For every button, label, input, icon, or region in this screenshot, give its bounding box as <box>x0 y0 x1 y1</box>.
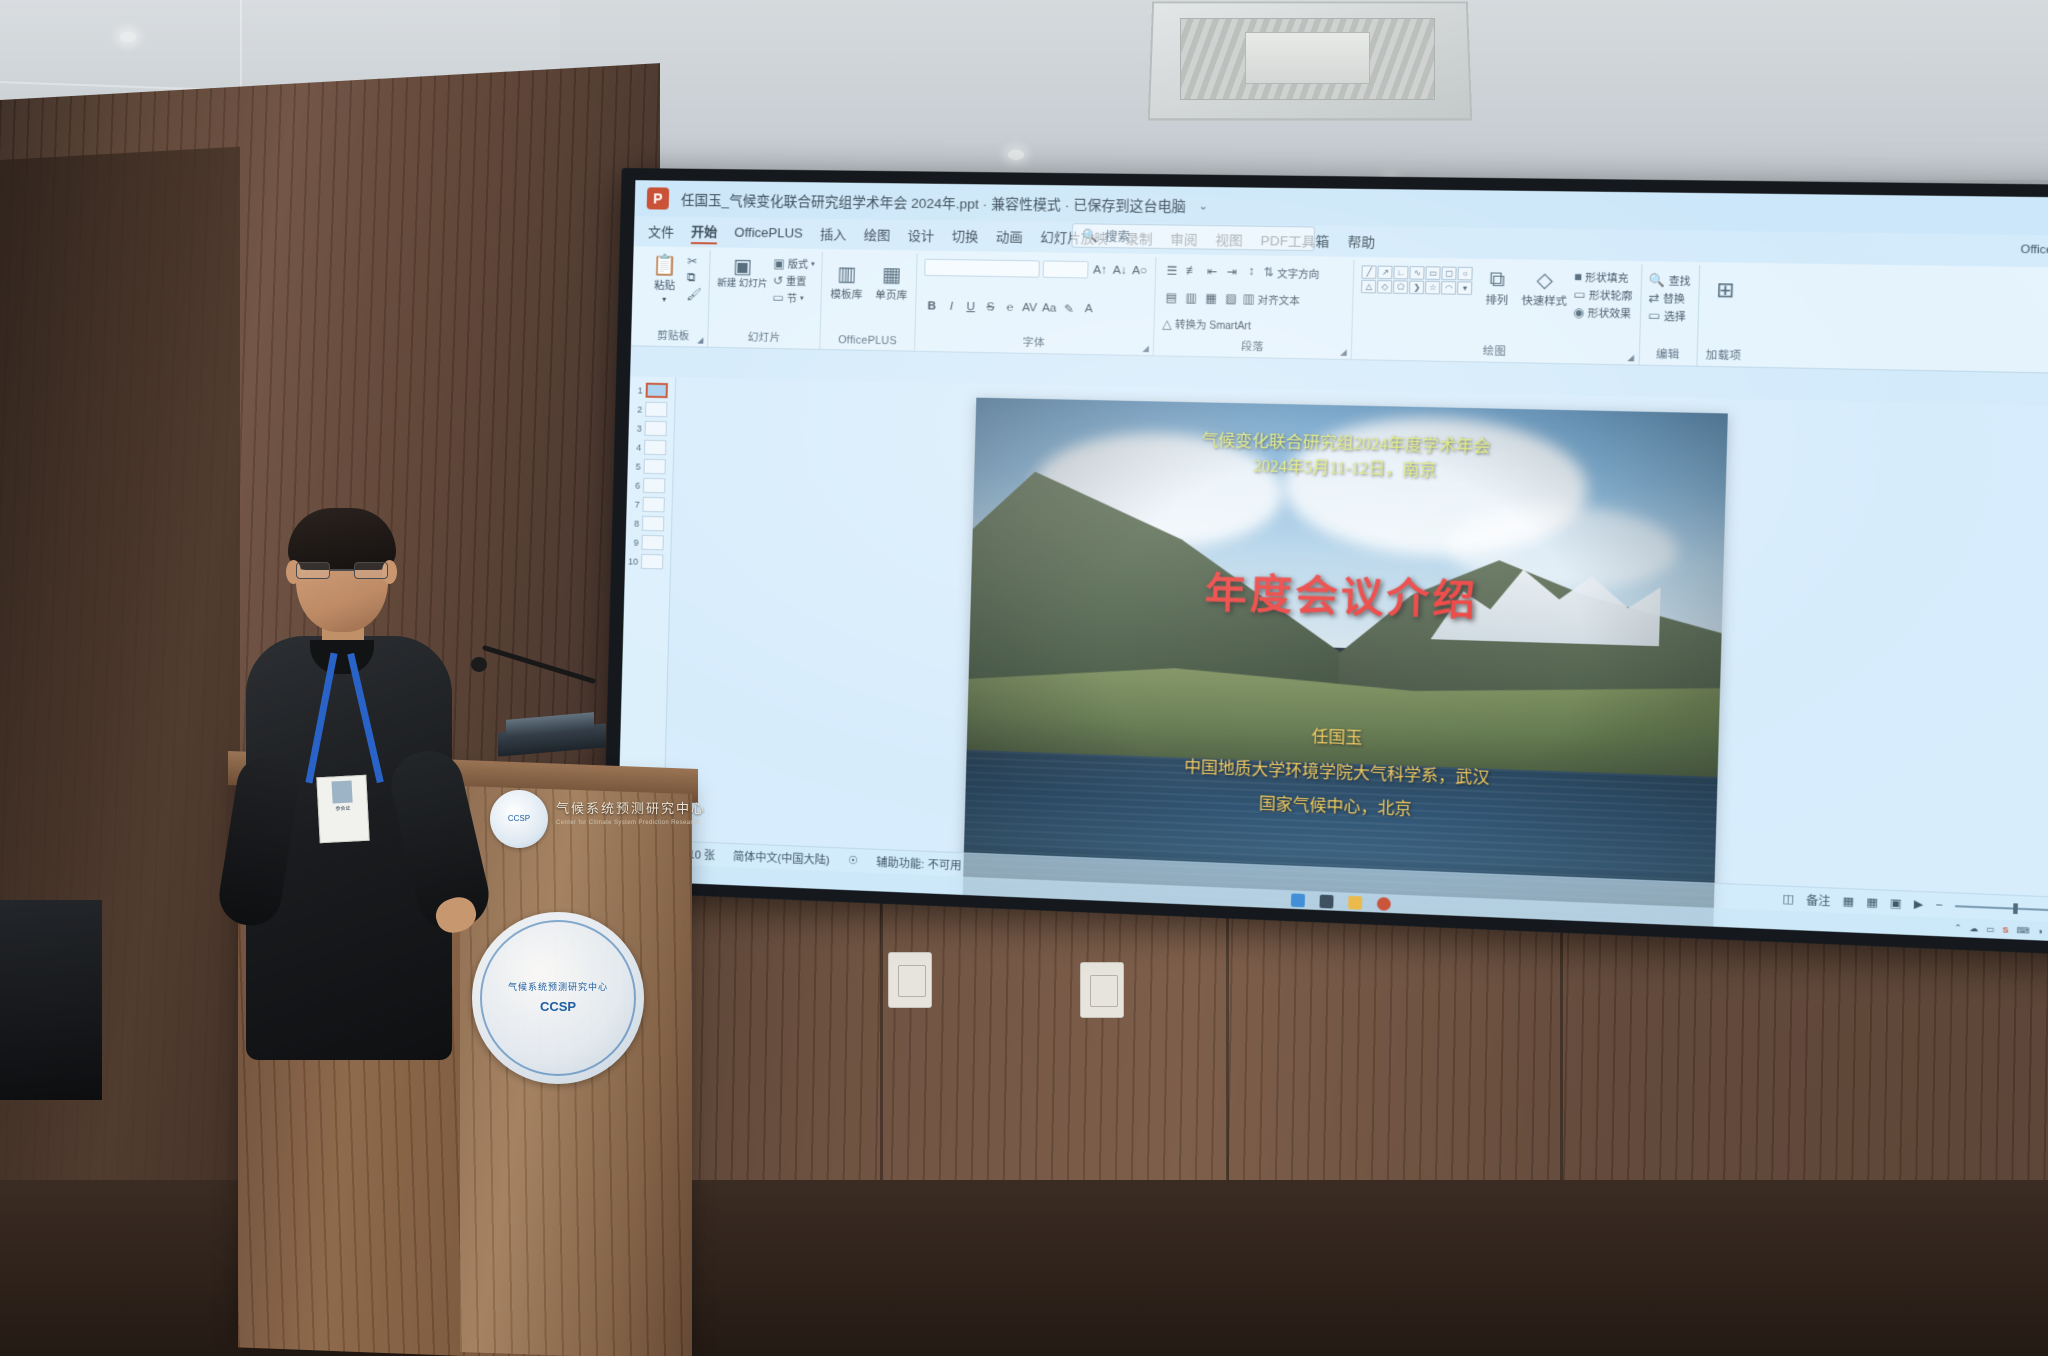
shape-diamond[interactable]: ◇ <box>1377 280 1392 294</box>
view-normal-icon[interactable]: ▦ <box>1842 894 1854 908</box>
shape-callout[interactable]: ◠ <box>1441 281 1456 295</box>
group-label-paragraph: 段落 <box>1161 337 1344 358</box>
shape-rounded-rect[interactable]: ▢ <box>1442 267 1457 281</box>
ribbon: 📋 粘贴 ▾ ✂ ⧉ 🖌 剪贴板 ◢ <box>631 246 2048 375</box>
conference-room-scene: P 任国玉_气候变化联合研究组学术年会 2024年.ppt · 兼容性模式 · … <box>0 0 2048 1356</box>
replace-button[interactable]: ⇄替换 <box>1649 290 1691 306</box>
thumb-number: 3 <box>632 423 642 433</box>
presenter: 参会证 <box>222 500 482 1060</box>
shape-more[interactable]: ▾ <box>1457 281 1472 295</box>
slide-thumbnail-8[interactable]: 8 <box>626 515 671 531</box>
text-direction-icon: ⇅ <box>1263 265 1274 280</box>
zoom-slider-knob[interactable] <box>2013 903 2018 914</box>
thumb-preview <box>641 535 663 551</box>
cut-icon: ✂ <box>687 254 697 268</box>
thumb-preview <box>646 383 668 398</box>
dialog-launcher-icon[interactable]: ◢ <box>1340 348 1347 357</box>
wifi-icon[interactable]: ◑ <box>2037 926 2043 936</box>
shape-outline-icon: ▭ <box>1573 287 1586 302</box>
quick-styles-button[interactable]: ◇ 快速样式 <box>1521 268 1567 309</box>
thumb-number: 2 <box>632 404 642 414</box>
format-painter-icon: 🖌 <box>686 287 702 301</box>
tab-draw[interactable]: 绘图 <box>863 224 890 246</box>
quick-styles-label: 快速样式 <box>1521 293 1567 309</box>
badge-photo <box>332 781 353 804</box>
screen-display: P 任国玉_气候变化联合研究组学术年会 2024年.ppt · 兼容性模式 · … <box>617 180 2048 943</box>
page-library-button[interactable]: ▦ 单页库 <box>874 263 910 303</box>
slide-thumbnail-9[interactable]: 9 <box>625 534 670 550</box>
tab-officeplus[interactable]: OfficePLUS <box>734 224 803 242</box>
notes-button[interactable]: 备注 <box>1806 891 1831 909</box>
section-label: 节 <box>787 290 798 305</box>
shape-effects-button[interactable]: ◉形状效果 <box>1573 304 1632 321</box>
layout-button[interactable]: ▣版式▾ <box>773 255 815 271</box>
thumb-number: 6 <box>630 480 640 490</box>
group-label-addins: 加载项 <box>1705 347 1743 366</box>
bullets-icon[interactable]: ☰ <box>1163 262 1180 279</box>
group-label-clipboard: 剪贴板 <box>646 328 701 346</box>
podium-badge-abbr: CCSP <box>508 815 530 823</box>
group-label-editing: 编辑 <box>1647 346 1689 365</box>
chevron-down-icon[interactable]: ⌄ <box>1198 199 1208 212</box>
language-indicator[interactable]: 简体中文(中国大陆) <box>733 848 830 868</box>
shape-effects-label: 形状效果 <box>1587 304 1631 320</box>
shape-fill-label: 形状填充 <box>1585 269 1629 285</box>
group-label-slides: 幻灯片 <box>715 329 812 348</box>
podium-seal: 气候系统预测研究中心 CCSP <box>472 912 644 1084</box>
italic-icon[interactable]: I <box>943 299 960 316</box>
numbering-icon[interactable]: ≢ <box>1183 263 1200 280</box>
editor-body: 1 2 3 4 5 6 7 8 9 10 <box>618 376 2048 898</box>
thumb-number: 8 <box>629 518 639 528</box>
arrange-label: 排列 <box>1485 292 1508 308</box>
underline-icon[interactable]: U <box>962 299 979 316</box>
slide-thumbnail-10[interactable]: 10 <box>625 553 670 569</box>
dialog-launcher-icon[interactable]: ◢ <box>1627 353 1634 363</box>
thumb-preview <box>645 402 667 418</box>
template-library-button[interactable]: ▥ 模板库 <box>829 262 865 302</box>
shape-rect[interactable]: ▭ <box>1426 266 1441 280</box>
ceiling-light <box>120 32 136 42</box>
keyboard-icon[interactable]: ⌨ <box>2016 925 2029 935</box>
template-library-icon: ▥ <box>837 264 857 285</box>
document-title: 任国玉_气候变化联合研究组学术年会 2024年.ppt · 兼容性模式 · 已保… <box>681 189 1187 216</box>
shape-chevron[interactable]: ❯ <box>1409 281 1424 295</box>
arrange-icon: ⧉ <box>1489 269 1505 290</box>
addins-icon: ⊞ <box>1716 280 1735 301</box>
smartart-label: 转换为 SmartArt <box>1175 316 1251 333</box>
clear-formatting-icon[interactable]: A○ <box>1131 262 1148 279</box>
ribbon-group-officeplus: ▥ 模板库 ▦ 单页库 OfficePLUS <box>820 252 917 351</box>
slide-thumbnail-1[interactable]: 1 <box>630 382 675 398</box>
align-text-label: 对齐文本 <box>1258 291 1301 307</box>
badge-label: 参会证 <box>322 805 364 814</box>
shape-pentagon[interactable]: ⬠ <box>1393 280 1408 294</box>
podium-org-name-en: Center for Climate System Prediction Res… <box>556 820 700 826</box>
select-label: 选择 <box>1664 308 1686 324</box>
podium-org-name: 气候系统预测研究中心 <box>556 798 706 817</box>
powerpoint-taskbar-icon[interactable] <box>1377 896 1391 910</box>
air-conditioner-center-panel <box>1245 32 1370 84</box>
strikethrough-icon[interactable]: S <box>982 299 999 316</box>
align-center-icon[interactable]: ▥ <box>1183 289 1200 306</box>
glasses-lens-left <box>296 562 330 579</box>
cloud-icon[interactable]: ☁ <box>1969 923 1978 933</box>
presenter-legs <box>0 900 102 1100</box>
slide-thumbnail-6[interactable]: 6 <box>627 477 672 493</box>
search-icon: 🔍 <box>1649 272 1666 287</box>
page-library-icon: ▦ <box>882 265 902 286</box>
clipboard-icon: 📋 <box>652 256 677 276</box>
dialog-launcher-icon[interactable]: ◢ <box>697 336 703 345</box>
thumb-number: 5 <box>631 461 641 471</box>
accessibility-icon: ☉ <box>848 854 858 868</box>
chevron-up-icon[interactable]: ⌃ <box>1954 923 1962 933</box>
search-placeholder: 搜索 <box>1105 227 1130 245</box>
shapes-gallery[interactable]: ╱ ↗ ∟ ∿ ▭ ▢ ○ △ ◇ ⬠ ❯ ☆ <box>1361 265 1473 295</box>
presenter-hair <box>288 508 396 570</box>
podium-logo-badge: CCSP <box>490 790 548 848</box>
group-label-font: 字体 <box>922 333 1146 354</box>
cut-button[interactable]: ✂ <box>687 254 703 268</box>
thumb-number: 9 <box>629 537 639 547</box>
find-button[interactable]: 🔍查找 <box>1649 272 1691 288</box>
chevron-down-icon[interactable]: ▾ <box>800 294 804 302</box>
thumb-preview <box>642 516 664 532</box>
find-label: 查找 <box>1669 272 1691 288</box>
copy-icon: ⧉ <box>687 270 696 285</box>
new-slide-button[interactable]: ▣ 新建 幻灯片 <box>717 255 769 291</box>
new-slide-label: 新建 幻灯片 <box>717 279 768 291</box>
select-icon: ▭ <box>1648 308 1661 323</box>
shape-oval[interactable]: ○ <box>1458 267 1473 281</box>
tab-insert[interactable]: 插入 <box>820 223 847 245</box>
new-slide-icon: ▣ <box>733 257 753 277</box>
decrease-font-size-icon[interactable]: A↓ <box>1111 262 1128 279</box>
replace-icon: ⇄ <box>1649 290 1660 305</box>
reset-icon: ↺ <box>773 273 784 287</box>
align-right-icon[interactable]: ▦ <box>1202 290 1219 307</box>
thumb-preview <box>645 421 667 437</box>
text-direction-button[interactable]: ⇅文字方向 <box>1263 264 1319 280</box>
shape-curve[interactable]: ∿ <box>1410 266 1425 280</box>
shape-outline-label: 形状轮廓 <box>1589 286 1633 302</box>
character-spacing-icon[interactable]: AV <box>1021 300 1038 317</box>
section-button[interactable]: ▭节▾ <box>772 290 814 306</box>
zoom-out-button[interactable]: − <box>1935 899 1943 912</box>
view-sorter-icon[interactable]: ▦ <box>1866 895 1878 909</box>
align-text-button[interactable]: ▥对齐文本 <box>1242 291 1300 307</box>
search-icon: 🔍 <box>1082 228 1098 243</box>
copy-button[interactable]: ⧉ <box>687 270 703 285</box>
ribbon-group-font: A↑ A↓ A○ B I U S ℮ AV Aa ✎ <box>915 253 1156 355</box>
arrange-button[interactable]: ⧉ 排列 <box>1478 267 1516 308</box>
shape-line[interactable]: ╱ <box>1362 265 1377 279</box>
decrease-indent-icon[interactable]: ⇤ <box>1203 263 1220 280</box>
line-spacing-icon[interactable]: ↕ <box>1243 264 1260 281</box>
tab-transitions[interactable]: 切换 <box>951 225 978 247</box>
font-color-icon[interactable]: A <box>1080 301 1097 318</box>
shape-star[interactable]: ☆ <box>1425 281 1440 295</box>
chevron-down-icon[interactable]: ▾ <box>811 259 815 267</box>
convert-smartart-button[interactable]: △转换为 SmartArt <box>1162 316 1251 333</box>
increase-indent-icon[interactable]: ⇥ <box>1223 263 1240 280</box>
slide-thumbnail-2[interactable]: 2 <box>629 401 674 417</box>
align-text-icon: ▥ <box>1242 291 1254 306</box>
reset-button[interactable]: ↺重置 <box>773 272 815 288</box>
glasses-bridge <box>330 569 354 571</box>
thumb-preview <box>644 440 666 456</box>
increase-font-size-icon[interactable]: A↑ <box>1092 262 1109 279</box>
tab-animations[interactable]: 动画 <box>996 226 1023 248</box>
file-explorer-icon[interactable] <box>1319 894 1333 908</box>
thumb-number: 10 <box>628 556 638 566</box>
shape-elbow[interactable]: ∟ <box>1394 266 1409 280</box>
align-left-icon[interactable]: ▤ <box>1163 289 1180 306</box>
folder-icon[interactable] <box>1348 895 1362 909</box>
format-painter-button[interactable]: 🖌 <box>686 287 702 301</box>
tab-design[interactable]: 设计 <box>907 224 934 246</box>
paste-label: 粘贴 <box>654 278 675 293</box>
search-input[interactable]: 🔍 搜索 <box>1071 223 1315 251</box>
thumb-preview <box>641 554 663 570</box>
thumb-preview <box>643 459 665 475</box>
slide-thumbnail-3[interactable]: 3 <box>629 420 674 436</box>
account-area[interactable]: Office CCSP CC <box>2020 239 2048 261</box>
shape-arrow[interactable]: ↗ <box>1378 266 1393 280</box>
accessibility-status[interactable]: 辅助功能: 不可用 <box>876 853 962 873</box>
text-direction-label: 文字方向 <box>1277 265 1320 281</box>
slide-stage: 气候变化联合研究组2024年度学术年会 2024年5月11-12日，南京 年度会… <box>664 377 2048 899</box>
account-name: Office CCSP <box>2021 243 2048 257</box>
shape-fill-icon: ■ <box>1574 269 1582 284</box>
seal-ring <box>480 920 636 1076</box>
thumb-number: 1 <box>633 385 643 395</box>
shape-outline-button[interactable]: ▭形状轮廓 <box>1573 286 1632 303</box>
ribbon-group-addins: ⊞ 加载项 <box>1697 265 1752 366</box>
presenter-badge: 参会证 <box>316 775 369 844</box>
replace-label: 替换 <box>1663 290 1685 306</box>
group-label-officeplus: OfficePLUS <box>828 334 908 350</box>
shape-effects-icon: ◉ <box>1573 304 1585 319</box>
bold-icon[interactable]: B <box>923 298 940 315</box>
ceiling-seam-2 <box>240 0 242 96</box>
ceiling-light-3 <box>1008 150 1024 160</box>
screen-icon[interactable]: ▭ <box>1986 924 1995 934</box>
projection-screen: P 任国玉_气候变化联合研究组学术年会 2024年.ppt · 兼容性模式 · … <box>602 168 2048 957</box>
glasses-lens-right <box>354 562 388 579</box>
slideshow-icon[interactable]: ▶ <box>1914 897 1924 911</box>
quick-styles-icon: ◇ <box>1536 270 1553 291</box>
smartart-icon: △ <box>1162 316 1172 331</box>
zoom-slider[interactable] <box>1955 905 2048 911</box>
font-size-input[interactable] <box>1043 260 1089 278</box>
ribbon-group-paragraph: ☰ ≢ ⇤ ⇥ ↕ ⇅文字方向 ▤ ▥ ▦ ▧ ▥对齐文本 <box>1154 257 1355 359</box>
layout-icon: ▣ <box>773 256 785 270</box>
tab-home[interactable]: 开始 <box>691 220 718 243</box>
slide-thumbnail-4[interactable]: 4 <box>628 439 673 455</box>
powerpoint-window: P 任国玉_气候变化联合研究组学术年会 2024年.ppt · 兼容性模式 · … <box>617 180 2048 943</box>
slide-thumbnail-7[interactable]: 7 <box>626 496 671 512</box>
paste-button[interactable]: 📋 粘贴 ▾ <box>647 253 682 304</box>
template-library-label: 模板库 <box>830 287 862 303</box>
thumb-preview <box>643 478 665 494</box>
ribbon-group-drawing: ╱ ↗ ∟ ∿ ▭ ▢ ○ △ ◇ ⬠ ❯ ☆ <box>1352 260 1642 365</box>
ribbon-group-slides: ▣ 新建 幻灯片 ▣版式▾ ↺重置 ▭节▾ 幻灯片 <box>708 250 823 349</box>
thumb-preview <box>642 497 664 513</box>
section-icon: ▭ <box>772 290 784 304</box>
font-name-input[interactable] <box>924 259 1040 278</box>
ribbon-group-editing: 🔍查找 ⇄替换 ▭选择 编辑 <box>1639 264 1700 365</box>
layout-label: 版式 <box>788 256 809 271</box>
dialog-launcher-icon[interactable]: ◢ <box>1142 344 1149 353</box>
highlight-color-icon[interactable]: ✎ <box>1060 300 1077 317</box>
text-shadow-icon[interactable]: ℮ <box>1001 299 1018 316</box>
addins-button[interactable]: ⊞ <box>1706 278 1744 302</box>
tab-file[interactable]: 文件 <box>648 221 675 242</box>
view-reading-icon[interactable]: ▣ <box>1890 896 1902 910</box>
thumb-number: 4 <box>631 442 641 452</box>
shape-fill-button[interactable]: ■形状填充 <box>1574 269 1633 286</box>
tab-help[interactable]: 帮助 <box>1347 231 1375 253</box>
windows-start-icon[interactable] <box>1291 893 1305 907</box>
notes-icon[interactable]: ◫ <box>1782 892 1794 906</box>
wall-left-dark-panel <box>0 147 240 1356</box>
chevron-down-icon[interactable]: ▾ <box>662 295 666 304</box>
sogou-ime-icon[interactable]: S <box>2003 925 2009 935</box>
change-case-icon[interactable]: Aa <box>1041 300 1058 317</box>
system-tray: ⌃ ☁ ▭ S ⌨ ◑ 🔊 ▮ 2024 <box>1954 923 2048 939</box>
thumb-number: 7 <box>630 499 640 509</box>
reset-label: 重置 <box>786 273 807 288</box>
slide-thumbnail-5[interactable]: 5 <box>628 458 673 474</box>
justify-icon[interactable]: ▧ <box>1222 290 1239 307</box>
shape-triangle[interactable]: △ <box>1361 280 1376 294</box>
wall-socket[interactable] <box>888 952 932 1008</box>
ribbon-group-clipboard: 📋 粘贴 ▾ ✂ ⧉ 🖌 剪贴板 ◢ <box>639 249 711 346</box>
wall-socket-2[interactable] <box>1080 962 1124 1018</box>
group-label-drawing: 绘图 <box>1359 341 1631 364</box>
page-library-label: 单页库 <box>875 287 908 303</box>
select-button[interactable]: ▭选择 <box>1648 307 1690 323</box>
powerpoint-icon: P <box>647 187 670 209</box>
presenter-glasses <box>296 562 388 579</box>
